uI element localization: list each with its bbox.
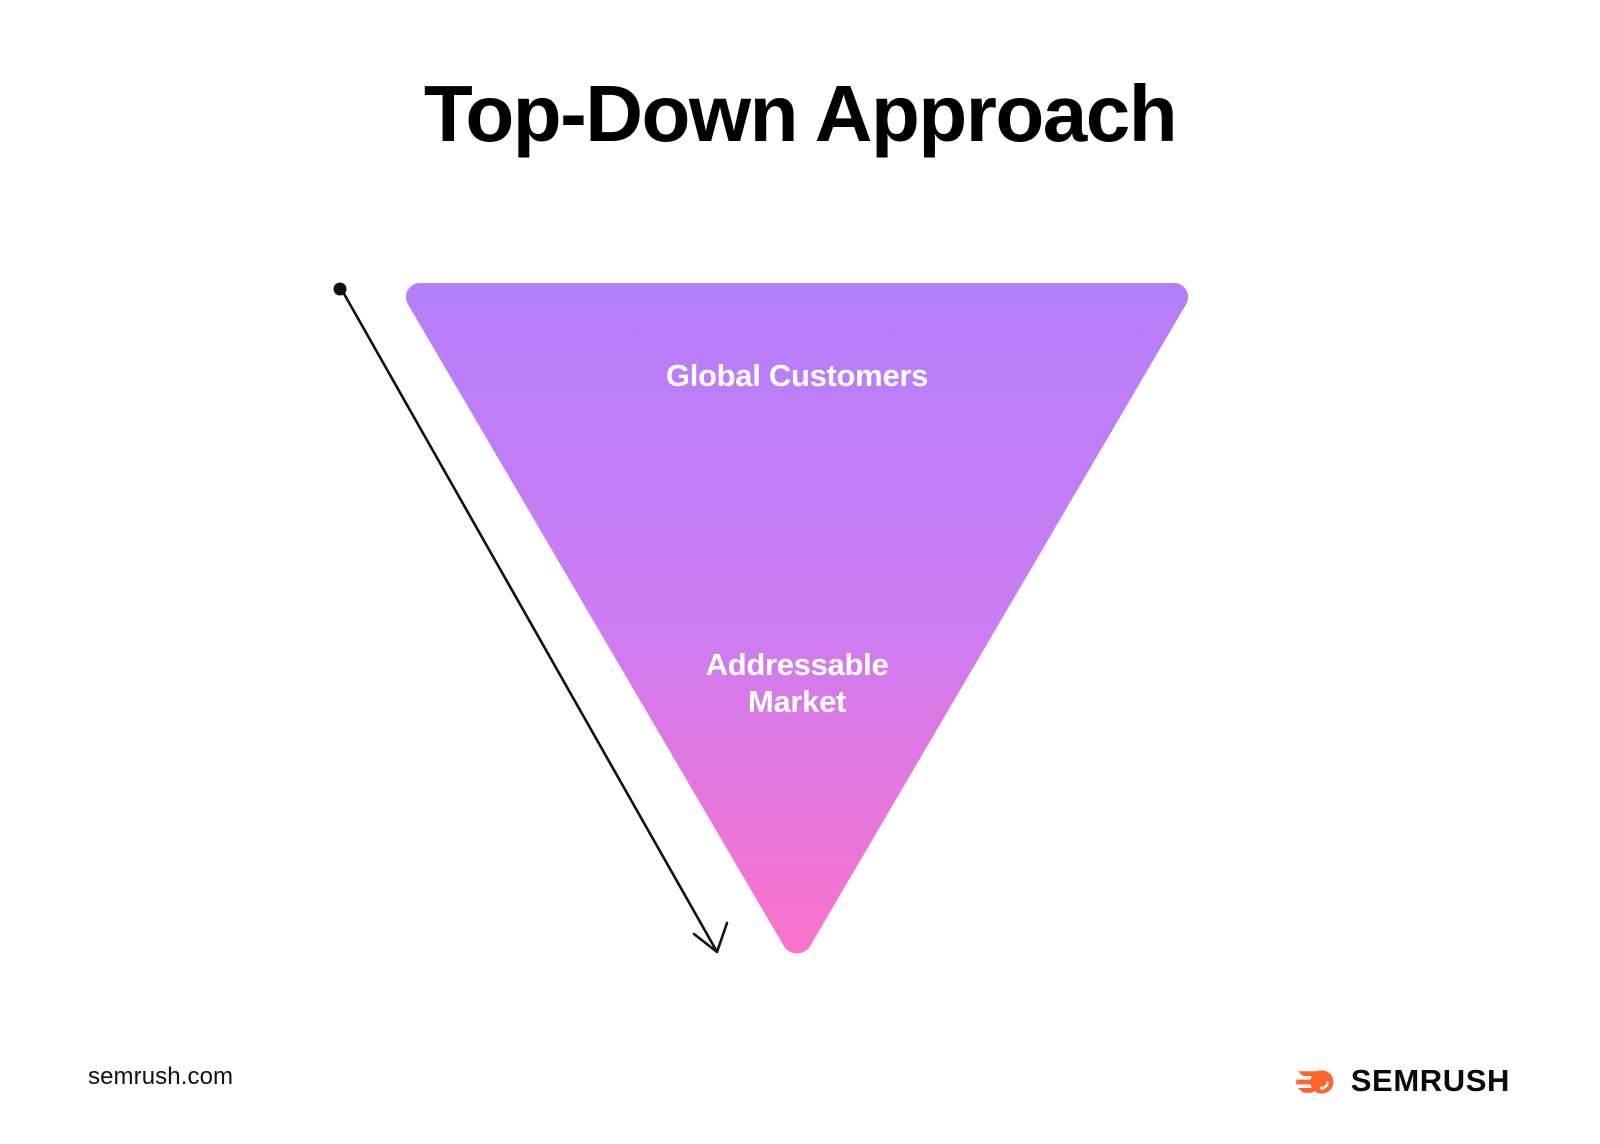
diagram-svg (0, 0, 1600, 1144)
semrush-wordmark: SEMRUSH (1351, 1065, 1510, 1096)
arrow-head (694, 923, 727, 952)
semrush-comet-icon (1296, 1064, 1338, 1096)
brand-logo: SEMRUSH (1296, 1060, 1510, 1100)
segment-label-line1: Addressable (706, 647, 889, 682)
slide-canvas: Top-Down Approach Global Customers Add (0, 0, 1600, 1144)
diagram-container: Global Customers Addressable Market (0, 0, 1600, 1144)
segment-label-line2: Market (597, 684, 997, 721)
segment-label-addressable-market: Addressable Market (597, 647, 997, 720)
segment-label-global-customers: Global Customers (497, 358, 1097, 395)
footer-url: semrush.com (88, 1063, 233, 1091)
